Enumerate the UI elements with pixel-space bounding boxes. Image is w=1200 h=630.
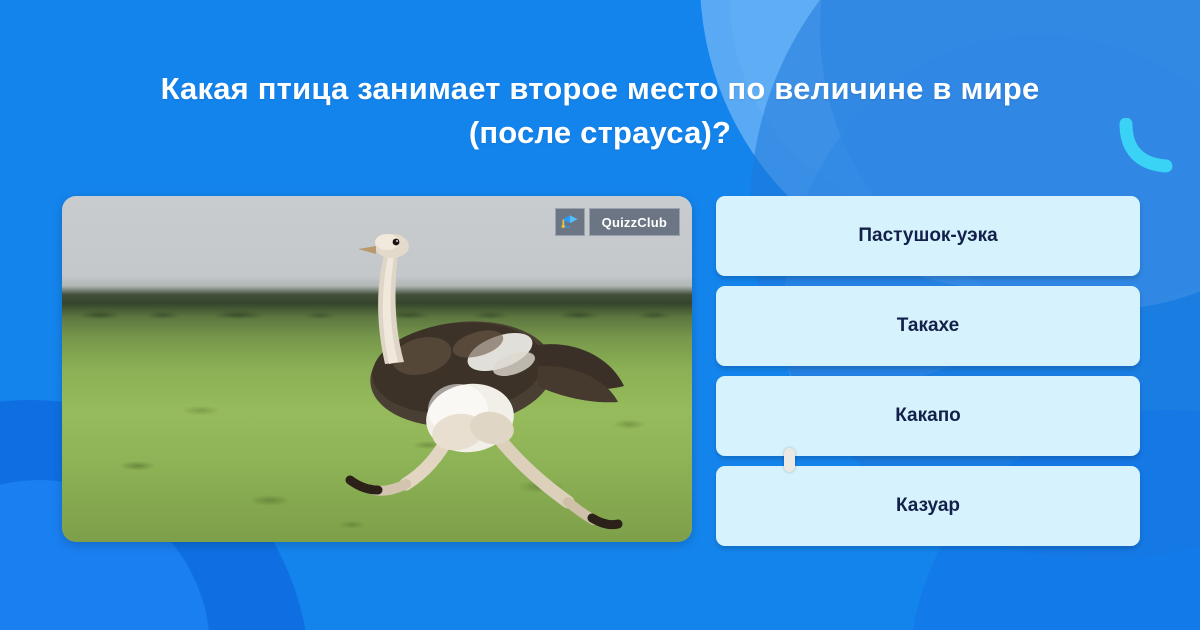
ostrich-illustration — [62, 196, 692, 542]
watermark: QuizzClub — [555, 208, 680, 236]
answer-list: Пастушок-уэка Такахе Какапо Казуар — [716, 196, 1140, 546]
quiz-card: Какая птица занимает второе место по вел… — [0, 0, 1200, 630]
answer-option-3[interactable]: Какапо — [716, 376, 1140, 456]
question-line-1: Какая птица занимает второе место по вел… — [60, 67, 1140, 111]
cursor-indicator — [784, 448, 795, 472]
answer-option-1[interactable]: Пастушок-уэка — [716, 196, 1140, 276]
savanna-photo: QuizzClub — [62, 196, 692, 542]
question-line-2: (после страуса)? — [60, 111, 1140, 155]
quizzclub-logo — [555, 208, 585, 236]
answer-option-2[interactable]: Такахе — [716, 286, 1140, 366]
question-image-card: QuizzClub — [62, 196, 692, 542]
content-row: QuizzClub Пастушок-уэка Такахе Какапо Ка… — [62, 196, 1140, 546]
watermark-brand: QuizzClub — [589, 208, 680, 236]
graduation-cap-icon — [561, 214, 579, 230]
page-title: Какая птица занимает второе место по вел… — [60, 67, 1140, 155]
answer-option-4[interactable]: Казуар — [716, 466, 1140, 546]
